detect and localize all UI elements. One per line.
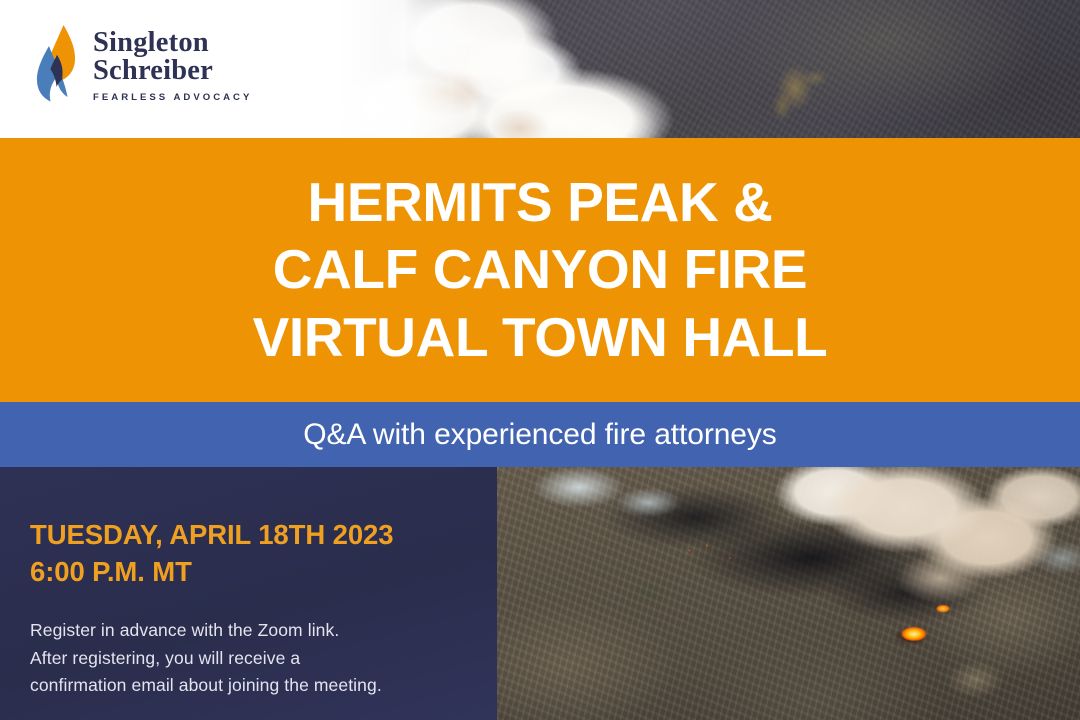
footer-wildfire-photo <box>497 467 1080 720</box>
brand-logo[interactable]: Singleton Schreiber FEARLESS ADVOCACY <box>30 24 252 108</box>
brand-name-line-1: Singleton <box>93 29 252 57</box>
registration-line-1: Register in advance with the Zoom link. <box>30 617 470 645</box>
subtitle-text: Q&A with experienced fire attorneys <box>303 418 776 452</box>
footer-photo-embers <box>497 467 1080 720</box>
registration-instructions: Register in advance with the Zoom link. … <box>30 617 470 700</box>
title-line-3: VIRTUAL TOWN HALL <box>253 304 828 372</box>
registration-line-3: confirmation email about joining the mee… <box>30 672 470 700</box>
event-datetime-block: TUESDAY, APRIL 18TH 2023 6:00 P.M. MT <box>30 517 393 591</box>
title-band: HERMITS PEAK & CALF CANYON FIRE VIRTUAL … <box>0 138 1080 402</box>
title-line-2: CALF CANYON FIRE <box>273 236 807 304</box>
registration-line-2: After registering, you will receive a <box>30 645 470 673</box>
flame-logo-icon <box>30 24 82 108</box>
event-time: 6:00 P.M. MT <box>30 554 393 591</box>
brand-tagline: FEARLESS ADVOCACY <box>93 92 252 103</box>
event-date: TUESDAY, APRIL 18TH 2023 <box>30 517 393 554</box>
brand-name-line-2: Schreiber <box>93 57 252 85</box>
title-line-1: HERMITS PEAK & <box>308 169 773 237</box>
subtitle-band: Q&A with experienced fire attorneys <box>0 402 1080 467</box>
brand-wordmark: Singleton Schreiber FEARLESS ADVOCACY <box>93 29 252 103</box>
event-flyer: Singleton Schreiber FEARLESS ADVOCACY HE… <box>0 0 1080 720</box>
